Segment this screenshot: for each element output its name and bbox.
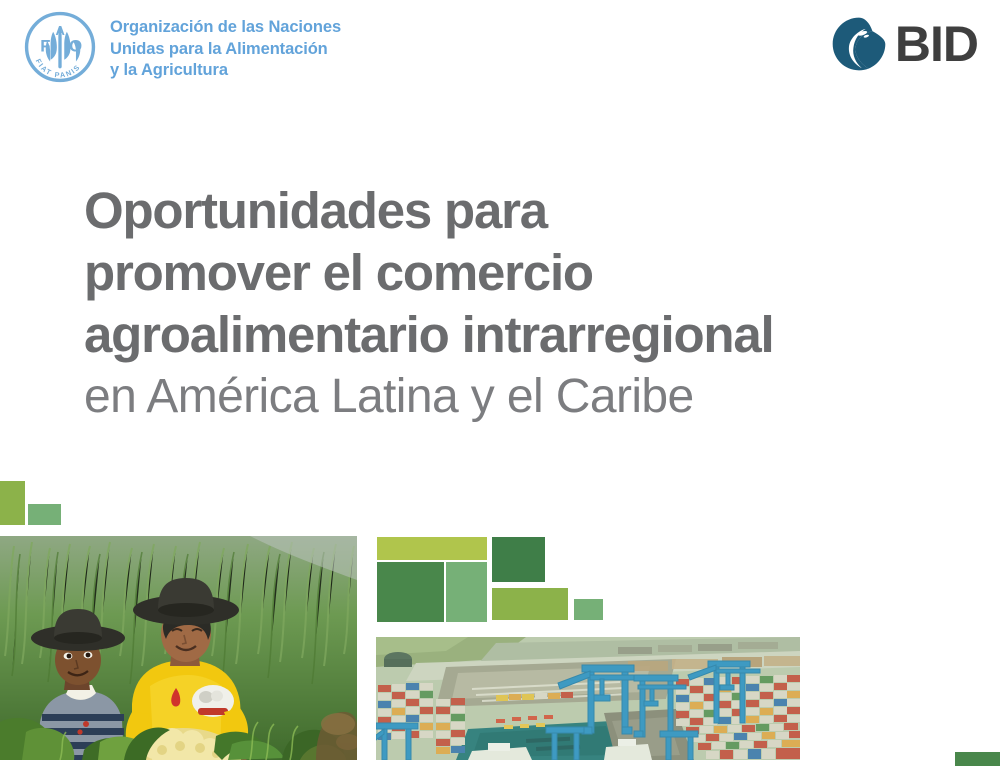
cover-title-block: Oportunidades para promover el comercio …	[84, 180, 974, 428]
svg-text:O: O	[69, 37, 82, 56]
svg-text:F: F	[40, 37, 50, 56]
cluster-bar-small	[574, 599, 603, 620]
cluster-bar-wide	[492, 588, 568, 620]
fao-organization-name: Organización de las Naciones Unidas para…	[110, 17, 341, 82]
corner-block-1	[0, 481, 25, 525]
container-port-photo	[376, 637, 800, 760]
farmers-field-photo	[0, 536, 357, 760]
title-line-3: agroalimentario intrarregional	[84, 304, 974, 366]
fao-emblem-icon: F A O FIAT PANIS	[22, 8, 98, 86]
bid-wordmark: BID	[895, 19, 978, 69]
fao-logo: F A O FIAT PANIS Organización de las Nac…	[22, 8, 341, 86]
corner-block-br	[955, 752, 1000, 766]
corner-block-2	[28, 504, 61, 525]
title-line-1: Oportunidades para	[84, 180, 974, 242]
page-subtitle: en América Latina y el Caribe	[84, 366, 974, 428]
svg-text:A: A	[55, 23, 64, 38]
bid-logo: BID	[831, 16, 978, 72]
bid-globe-swirl-icon	[831, 16, 887, 72]
cluster-square-dark	[492, 537, 545, 582]
cluster-square-big	[377, 562, 444, 622]
cluster-bar-top	[377, 537, 487, 560]
cluster-square-mid	[446, 562, 487, 622]
title-line-2: promover el comercio	[84, 242, 974, 304]
page-title: Oportunidades para promover el comercio …	[84, 180, 974, 366]
